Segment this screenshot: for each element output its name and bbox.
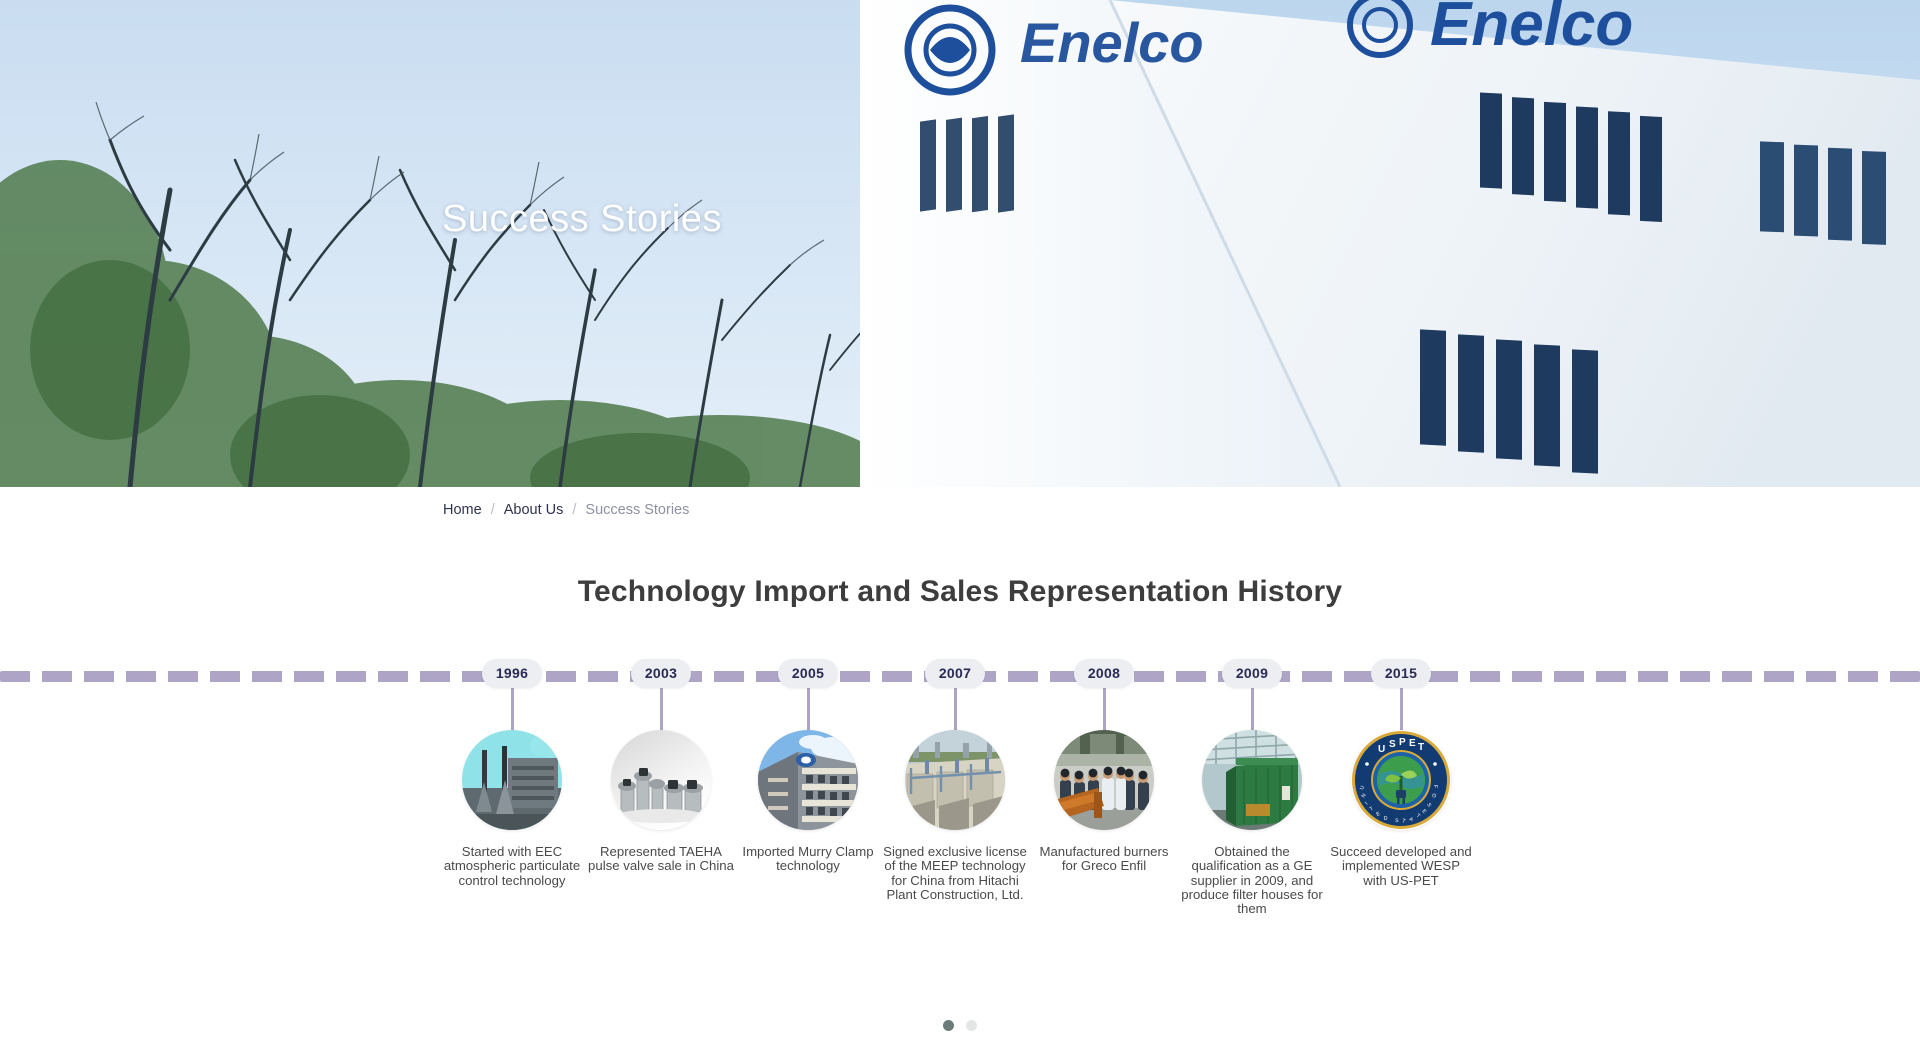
svg-text:S: S (1389, 739, 1396, 750)
caption-line: for China from Hitachi (881, 874, 1029, 888)
caption-line: produce filter houses for (1178, 888, 1326, 902)
svg-text:Enelco: Enelco (1430, 0, 1633, 59)
timeline-stem (954, 688, 957, 734)
timeline-item-2008[interactable]: 2008 (1030, 659, 1178, 874)
caption-line: atmospheric particulate (438, 859, 586, 873)
timeline-item-2009[interactable]: 2009 (1178, 659, 1326, 916)
pulse-valves-photo[interactable] (611, 730, 711, 830)
svg-text:T: T (1418, 742, 1424, 753)
breadcrumb: Home / About Us / Success Stories (443, 502, 689, 518)
caption-line: implemented WESP (1327, 859, 1475, 873)
caption-line: control technology (438, 874, 586, 888)
caption-line: supplier in 2009, and (1178, 874, 1326, 888)
caption-line: of the MEEP technology (881, 859, 1029, 873)
timeline-caption: Succeed developed and implemented WESP w… (1327, 845, 1475, 888)
timeline-item-1996[interactable]: 1996 (438, 659, 586, 888)
caption-line: Represented TAEHA (587, 845, 735, 859)
hero-trees-image (0, 0, 900, 487)
caption-line: with US-PET (1327, 874, 1475, 888)
timeline-year-badge[interactable]: 2005 (778, 659, 838, 688)
carousel-dot-2[interactable] (966, 1020, 977, 1031)
section-heading: Technology Import and Sales Representati… (0, 575, 1920, 609)
timeline-year-badge[interactable]: 1996 (482, 659, 542, 688)
breadcrumb-separator: / (572, 502, 576, 518)
caption-line: Succeed developed and (1327, 845, 1475, 859)
timeline-stem (660, 688, 663, 734)
caption-line: Plant Construction, Ltd. (881, 888, 1029, 902)
timeline-stem (511, 688, 514, 734)
timeline-item-2005[interactable]: 2005 (734, 659, 882, 874)
timeline-item-2015[interactable]: 2015 (1327, 659, 1475, 888)
caption-line: technology (734, 859, 882, 873)
timeline-items: 1996 (0, 659, 1920, 1054)
green-filter-house-photo[interactable] (1202, 730, 1302, 830)
caption-line: Signed exclusive license (881, 845, 1029, 859)
timeline-stem (1400, 688, 1403, 734)
timeline-caption: Signed exclusive license of the MEEP tec… (881, 845, 1029, 902)
timeline-item-2003[interactable]: 2003 (587, 659, 735, 874)
industrial-plant-photo[interactable] (462, 730, 562, 830)
svg-text:U: U (1378, 744, 1385, 755)
uspet-seal-logo[interactable]: U S P E T U N I T E D S (1351, 730, 1451, 830)
breadcrumb-bar: Home / About Us / Success Stories (0, 487, 1920, 533)
caption-line: pulse valve sale in China (587, 859, 735, 873)
timeline-stem (1251, 688, 1254, 734)
carousel-dot-1[interactable] (943, 1020, 954, 1031)
timeline-caption: Started with EEC atmospheric particulate… (438, 845, 586, 888)
breadcrumb-item-home[interactable]: Home (443, 502, 482, 518)
caption-line: qualification as a GE (1178, 859, 1326, 873)
caption-line: Obtained the (1178, 845, 1326, 859)
breadcrumb-item-about-us[interactable]: About Us (504, 502, 564, 518)
svg-text:Enelco: Enelco (1020, 11, 1204, 74)
breadcrumb-separator: / (491, 502, 495, 518)
svg-text:P: P (1399, 737, 1406, 748)
caption-line: Imported Murry Clamp (734, 845, 882, 859)
caption-line: Started with EEC (438, 845, 586, 859)
timeline-caption: Imported Murry Clamp technology (734, 845, 882, 874)
filter-house-rooftop-photo[interactable] (905, 730, 1005, 830)
team-with-burner-photo[interactable] (1054, 730, 1154, 830)
svg-text:E: E (1409, 738, 1416, 749)
caption-line: them (1178, 902, 1326, 916)
hero-banner: Enelco Enelco Success Stories (0, 0, 1920, 487)
caption-line: for Greco Enfil (1030, 859, 1178, 873)
timeline-year-badge[interactable]: 2009 (1222, 659, 1282, 688)
carousel-dots (0, 1020, 1920, 1031)
page-title: Success Stories (442, 198, 722, 241)
timeline-stem (1103, 688, 1106, 734)
timeline-stem (807, 688, 810, 734)
timeline-caption: Obtained the qualification as a GE suppl… (1178, 845, 1326, 916)
timeline: 1996 (0, 659, 1920, 1054)
timeline-item-2007[interactable]: 2007 (881, 659, 1029, 902)
timeline-year-badge[interactable]: 2007 (925, 659, 985, 688)
office-building-photo[interactable] (758, 730, 858, 830)
caption-line: Manufactured burners (1030, 845, 1178, 859)
timeline-year-badge[interactable]: 2008 (1074, 659, 1134, 688)
breadcrumb-item-current: Success Stories (585, 502, 689, 518)
timeline-caption: Represented TAEHA pulse valve sale in Ch… (587, 845, 735, 874)
timeline-year-badge[interactable]: 2015 (1371, 659, 1431, 688)
hero-building-image: Enelco Enelco (860, 0, 1920, 487)
svg-text:F: F (1432, 785, 1438, 789)
timeline-year-badge[interactable]: 2003 (631, 659, 691, 688)
timeline-caption: Manufactured burners for Greco Enfil (1030, 845, 1178, 874)
